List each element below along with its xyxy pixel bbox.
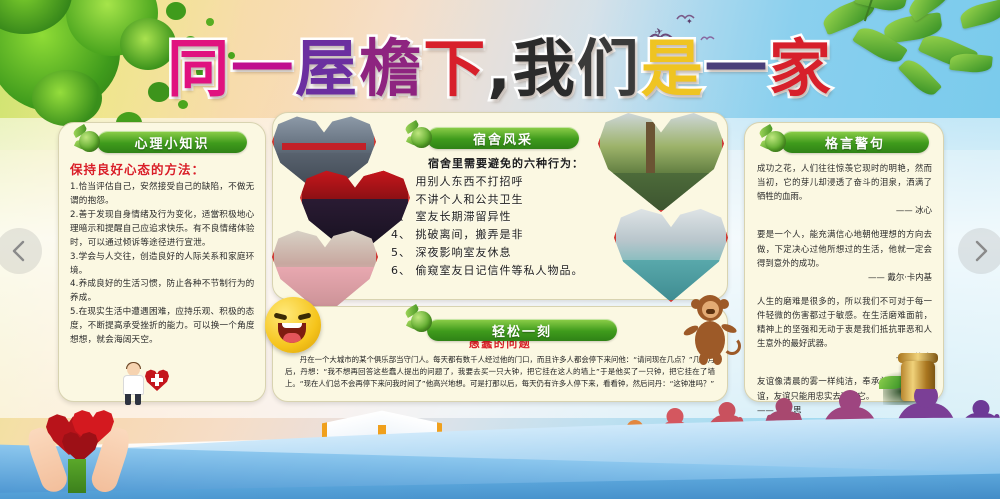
banner-label: 宿舍风采 (473, 129, 533, 148)
dorm-content: 宿舍风采 宿舍里需要避免的六种行为： 1、 用别人东西不打招呼 2、 不讲个人和… (391, 119, 621, 280)
psychology-item: 3.学会与人交往，创造良好的人际关系和家庭环境。 (70, 251, 255, 279)
leaf-globe-icon (759, 127, 789, 157)
title-char: 下 (423, 38, 487, 100)
banner-dorm: 宿舍风采 (391, 127, 621, 149)
psychology-item: 5.在现实生活中遭遇困难，应持乐观、积极的态度，不断提高承受挫折的能力。可以换一… (70, 306, 255, 348)
title-char: 檐 (359, 38, 423, 100)
title-char: 是 (641, 38, 705, 100)
dorm-item: 5、 深夜影响室友休息 (391, 244, 621, 262)
chevron-left-icon (10, 239, 28, 263)
banner-label: 轻松一刻 (492, 321, 552, 340)
maxim-text: 要是一个人，能充满信心地朝他理想的方向去做，下定决心过他所想过的生活，他就一定会… (757, 227, 932, 269)
banner-label: 格言警句 (825, 133, 885, 152)
laughing-smiley-icon (265, 297, 321, 353)
monkey-icon (679, 293, 741, 365)
dorm-item: 2、 不讲个人和公共卫生 (391, 191, 621, 209)
maxim-attribution: —— 戴尔·卡内基 (757, 270, 932, 284)
leaf-globe-icon (73, 127, 103, 157)
next-slide-button[interactable] (958, 228, 1000, 274)
title-char: 我 (513, 38, 577, 100)
title-char: 同 (167, 38, 231, 100)
maxim-text: 人生的磨难是很多的，所以我们不可对于每一件轻微的伤害都过于敏感。在生活磨难面前，… (757, 294, 932, 350)
dorm-item: 4、 挑破离间，搬弄是非 (391, 226, 621, 244)
poster-stage: ✈ ✦ 同一屋檐下,我们是一家 心理小知识 保持良好心态的方法： 1.恰当评估自… (0, 0, 1000, 499)
bird-icon (676, 12, 696, 23)
maxim-attribution: —— 冰心 (757, 203, 932, 217)
dorm-item: 3、 室友长期滞留异性 (391, 208, 621, 226)
banner-psychology: 心理小知识 (59, 131, 265, 153)
hands-holding-hearts-icon (28, 407, 148, 493)
psychology-item: 1.恰当评估自己，安然接受自己的缺陷，不做无谓的抱怨。 (70, 181, 255, 209)
maxim-text: 成功之花，人们往往惊羡它现时的明艳，然而当初，它的芽儿却浸透了奋斗的泪泉，洒满了… (757, 161, 932, 203)
maxim-quote: 要是一个人，能充满信心地朝他理想的方向去做，下定决心过他所想过的生活，他就一定会… (757, 227, 932, 283)
title-char: , (487, 38, 513, 100)
leaf-globe-icon (405, 123, 435, 153)
title-char: 一 (705, 38, 769, 100)
leaf-globe-icon (405, 307, 435, 337)
joke-header: 轻松一刻 (273, 307, 727, 333)
banner-label: 心理小知识 (134, 133, 209, 152)
panel-psychology-tips: 心理小知识 保持良好心态的方法： 1.恰当评估自己，安然接受自己的缺陷，不做无谓… (58, 122, 266, 402)
psychology-heading: 保持良好心态的方法： (70, 159, 255, 178)
dorm-list: 宿舍里需要避免的六种行为： 1、 用别人东西不打招呼 2、 不讲个人和公共卫生 … (391, 155, 621, 280)
panel-maxims: 格言警句 成功之花，人们往往惊羡它现时的明艳，然而当初，它的芽儿却浸透了奋斗的泪… (744, 122, 944, 402)
title-char: 家 (769, 38, 833, 100)
bottom-decoration-scene (0, 379, 1000, 499)
dorm-item: 1、 用别人东西不打招呼 (391, 173, 621, 191)
psychology-item: 2.善于发现自身情绪及行为变化，适當积极地心理暗示和提醒自己应追求快乐。有不良情… (70, 209, 255, 251)
dorm-heading: 宿舍里需要避免的六种行为： (391, 155, 621, 173)
banner-maxims: 格言警句 (745, 131, 943, 153)
title-char: 一 (231, 38, 295, 100)
banner-relaxation: 轻松一刻 (391, 311, 621, 341)
title-char: 屋 (295, 38, 359, 100)
psychology-content: 保持良好心态的方法： 1.恰当评估自己，安然接受自己的缺陷，不做无谓的抱怨。 2… (59, 153, 265, 348)
maxim-quote: 成功之花，人们往往惊羡它现时的明艳，然而当初，它的芽儿却浸透了奋斗的泪泉，洒满了… (757, 161, 932, 217)
psychology-item: 4.养成良好的生活习惯，防止各种不节制行为的养成。 (70, 278, 255, 306)
title-char: 们 (577, 38, 641, 100)
chevron-right-icon (972, 239, 990, 263)
poster-title: 同一屋檐下,我们是一家 (0, 38, 1000, 100)
dorm-item: 6、 偷窥室友日记信件等私人物品。 (391, 262, 621, 280)
